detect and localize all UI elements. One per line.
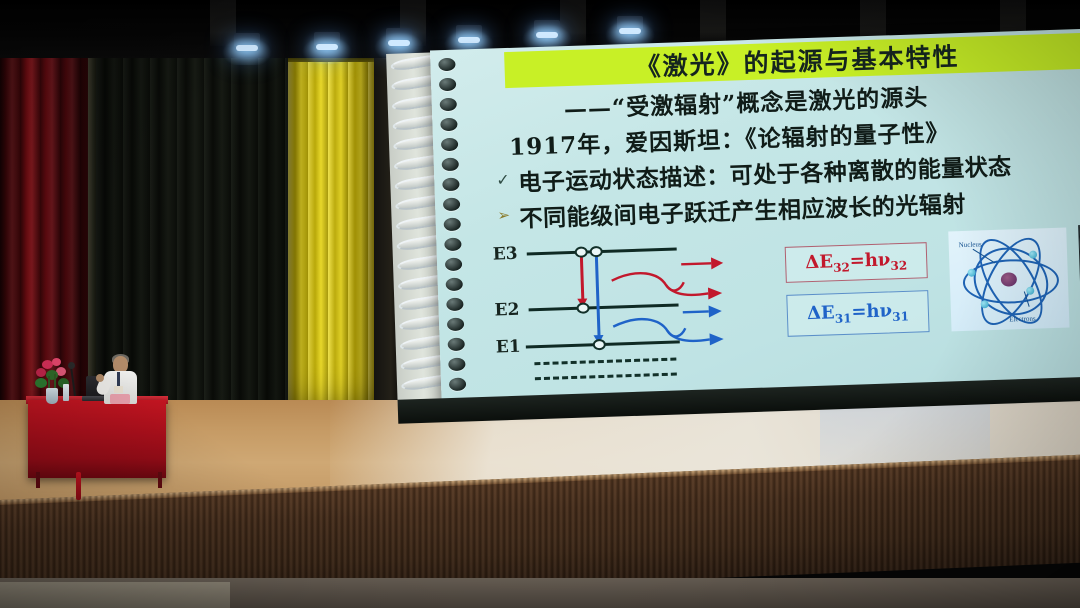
atom-label-electrons: Electrons [1009, 315, 1036, 324]
atom-illustration: Nucleus Electrons [948, 228, 1069, 332]
level-label-e3: E3 [492, 244, 517, 265]
flower-vase [46, 388, 58, 404]
check-icon: ✓ [496, 170, 510, 190]
stage-light [230, 33, 264, 59]
level-label-e1: E1 [496, 337, 521, 358]
state-node-e2 [576, 302, 589, 313]
truss-bar [700, 0, 726, 46]
stage-light [452, 25, 486, 51]
formula-e31: ΔE31=hν31 [807, 300, 909, 327]
slide-page: 《激光》的起源与基本特性 ——“受激辐射”概念是激光的源头 1917年，爱因斯坦… [430, 29, 1080, 407]
stage-light [613, 16, 647, 42]
arrow-bullet-icon: ➢ [497, 206, 510, 224]
presenter [100, 356, 140, 404]
formula-e32: ΔE32=hν32 [805, 249, 907, 276]
slide-title: 《激光》的起源与基本特性 [635, 37, 960, 84]
transition-arrow-e3-e2 [580, 256, 584, 300]
yellow-curtain [288, 62, 374, 420]
atom-label-nucleus: Nucleus [959, 240, 982, 249]
red-curtain-edge [88, 0, 96, 432]
projection-screen: 《激光》的起源与基本特性 ——“受激辐射”概念是激光的源头 1917年，爱因斯坦… [386, 29, 1080, 424]
stage-light [530, 20, 564, 46]
state-node-e1 [593, 339, 606, 350]
state-node-e3-b [590, 246, 603, 257]
stage-light [310, 32, 344, 58]
water-bottle [63, 384, 69, 401]
microphone-icon [68, 362, 75, 369]
level-label-e2: E2 [494, 300, 519, 321]
stage-light [382, 28, 416, 54]
state-node-e3-a [575, 246, 588, 257]
screenshot-root: 《激光》的起源与基本特性 ——“受激辐射”概念是激光的源头 1917年，爱因斯坦… [0, 0, 1080, 608]
formula-box-e32: ΔE32=hν32 [785, 242, 928, 283]
auditorium-floor-tile [0, 582, 230, 608]
transition-arrow-e3-e1 [595, 255, 601, 336]
formula-box-e31: ΔE31=hν31 [786, 290, 929, 337]
presenter-table [28, 400, 166, 478]
table-ribbon [76, 472, 81, 500]
table-leg [36, 472, 40, 488]
punch-hole-column [434, 50, 470, 407]
table-leg [158, 472, 162, 488]
